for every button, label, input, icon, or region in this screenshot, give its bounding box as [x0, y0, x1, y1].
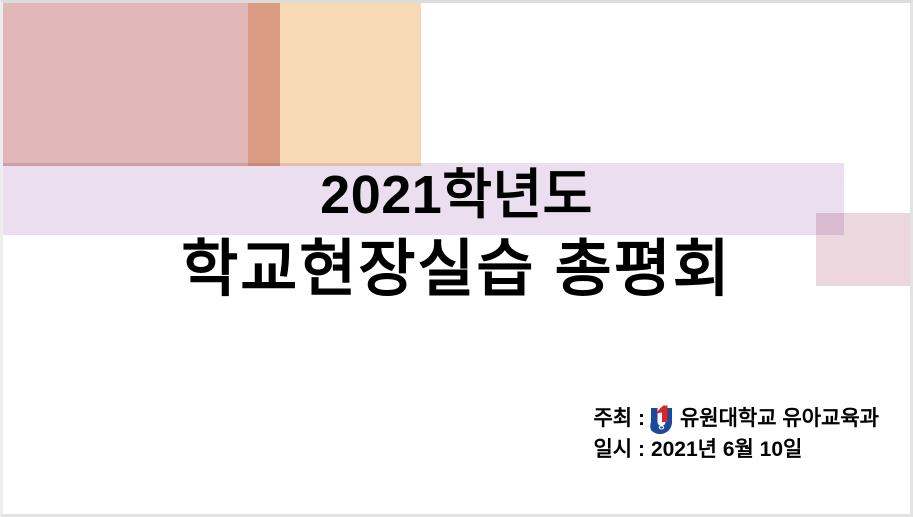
host-value: 유원대학교 유아교육과	[680, 403, 879, 434]
title-line-year: 2021학년도	[3, 160, 910, 230]
slide-credits: 주최 : 유원대학교 유아교육과 일시 : 2021년	[593, 403, 879, 465]
slide-canvas: 2021학년도 학교현장실습 총평회 주최 :	[3, 3, 910, 514]
presentation-slide: 2021학년도 학교현장실습 총평회 주최 :	[0, 0, 913, 517]
uwu-university-logo-icon	[648, 405, 675, 434]
credit-row-date: 일시 : 2021년 6월 10일	[593, 434, 879, 465]
date-value: 2021년 6월 10일	[651, 434, 802, 465]
date-label: 일시 :	[593, 434, 644, 465]
host-label: 주최 :	[593, 403, 644, 434]
slide-title: 2021학년도 학교현장실습 총평회	[3, 160, 910, 310]
decor-peach-block	[248, 3, 421, 166]
decor-rose-block	[3, 3, 280, 166]
credit-row-host: 주최 : 유원대학교 유아교육과	[593, 403, 879, 434]
title-line-main: 학교현장실습 총평회	[3, 230, 910, 310]
